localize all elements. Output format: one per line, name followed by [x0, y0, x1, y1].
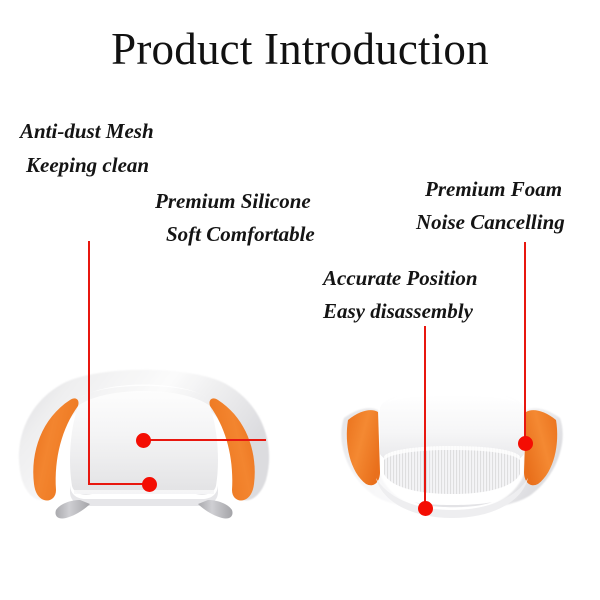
mounting-leg-left: [55, 500, 90, 519]
label-premium-foam-line2: Noise Cancelling: [416, 209, 565, 236]
foam-wing-right-left-side: [347, 410, 380, 485]
label-premium-foam-line1: Premium Foam: [425, 176, 562, 203]
callout-accurate-position-line: [424, 326, 426, 508]
label-accurate-position-line1: Accurate Position: [323, 265, 478, 292]
callout-premium-foam-dot: [518, 436, 533, 451]
product-image-inverted: [318, 378, 588, 538]
label-premium-silicone-line1: Premium Silicone: [155, 188, 311, 215]
rim-highlight-left: [74, 490, 214, 494]
page-title: Product Introduction: [0, 24, 600, 74]
label-accurate-position-line2: Easy disassembly: [323, 298, 473, 325]
label-anti-dust-mesh-line2: Keeping clean: [26, 152, 149, 179]
mesh-core-right: [384, 446, 520, 494]
callout-premium-silicone-dot: [136, 433, 151, 448]
mounting-leg-right: [198, 500, 233, 519]
callout-accurate-position-dot: [418, 501, 433, 516]
callout-premium-silicone-line: [143, 439, 266, 441]
callout-premium-foam-line: [524, 242, 526, 443]
callout-anti-dust-mesh-dot: [142, 477, 157, 492]
callout-anti-dust-mesh-line-vertical: [88, 241, 90, 485]
callout-anti-dust-mesh-line-horizontal: [88, 483, 150, 485]
label-premium-silicone-line2: Soft Comfortable: [166, 221, 315, 248]
label-anti-dust-mesh-line1: Anti-dust Mesh: [20, 118, 154, 145]
product-introduction-poster: Product Introduction Anti-dust Mesh Keep…: [0, 0, 600, 600]
